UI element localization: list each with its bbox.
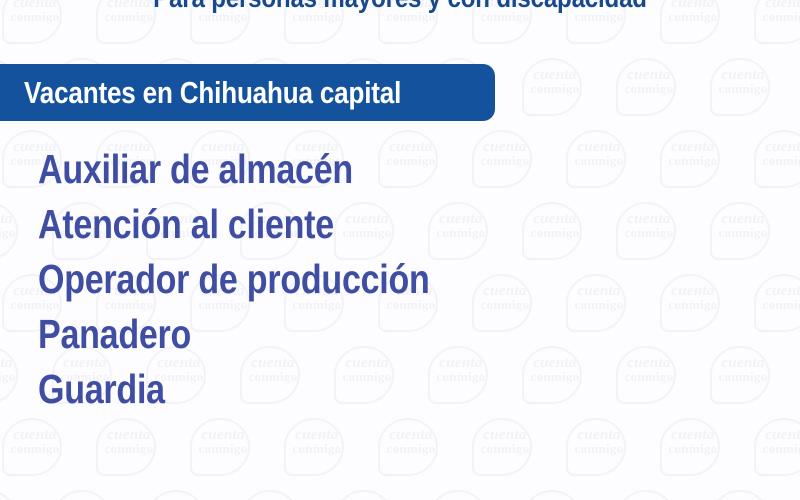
section-badge: Vacantes en Chihuahua capital [0,64,495,121]
poster-canvas: cuentaconmigocuentaconmigocuentaconmigoc… [0,0,800,500]
section-badge-label: Vacantes en Chihuahua capital [24,75,401,111]
vacancy-list: Auxiliar de almacénAtención al clienteOp… [38,142,510,417]
list-item: Atención al cliente [38,197,430,252]
list-item: Auxiliar de almacén [38,142,430,197]
list-item: Operador de producción [38,252,430,307]
poster-content: Para personas mayores y con discapacidad… [0,0,800,500]
list-item: Guardia [38,362,430,417]
list-item: Panadero [38,307,430,362]
headline-clip: Para personas mayores y con discapacidad [0,0,800,14]
page-headline: Para personas mayores y con discapacidad [56,0,744,14]
